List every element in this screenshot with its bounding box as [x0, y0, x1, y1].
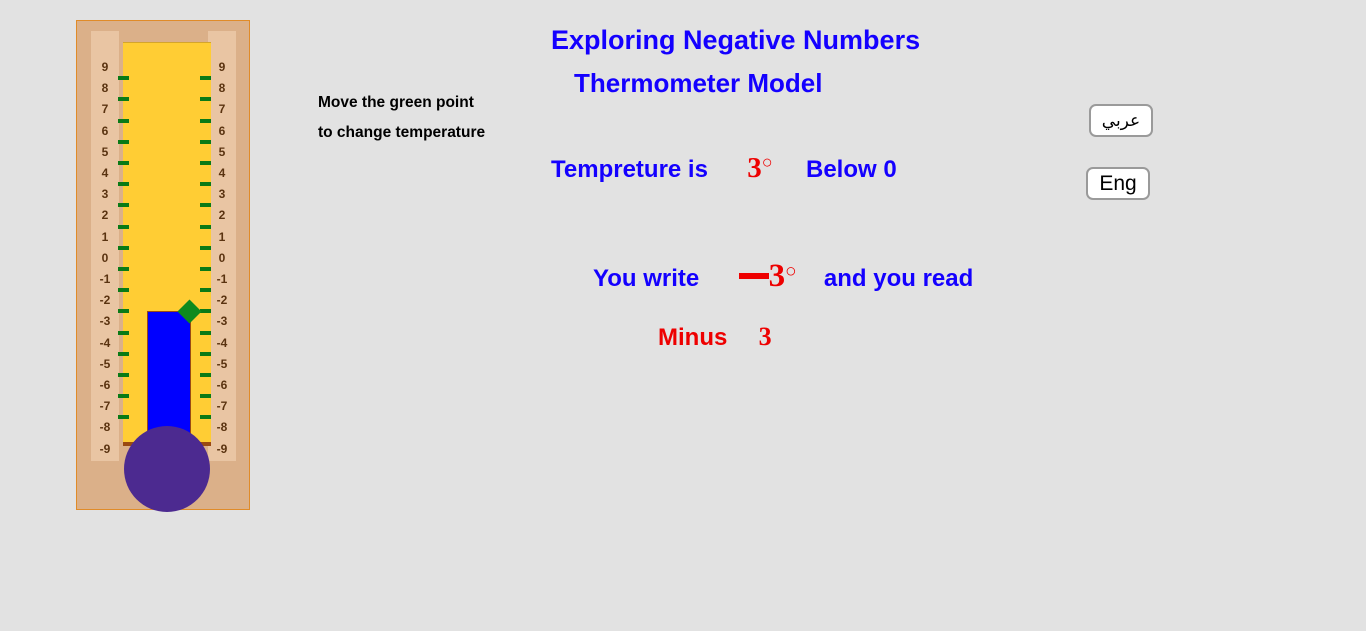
tick-mark-6 [118, 119, 129, 123]
tick-mark-7 [200, 97, 211, 101]
instructions-text: Move the green point to change temperatu… [318, 88, 488, 148]
scale-label--7: -7 [91, 400, 119, 412]
scale-label-7: 7 [208, 103, 236, 115]
thermometer-bulb [124, 426, 210, 512]
temperature-statement: Tempreture is 3○ Below 0 [551, 152, 897, 185]
tick-mark-5 [118, 140, 129, 144]
tick-mark--2 [118, 288, 129, 292]
tick-mark-1 [118, 225, 129, 229]
tick-mark--4 [118, 331, 129, 335]
scale-strip-left: 9876543210-1-2-3-4-5-6-7-8-9 [91, 31, 119, 461]
tick-mark-1 [200, 225, 211, 229]
tick-mark--4 [200, 331, 211, 335]
degree-symbol-icon: ○ [785, 261, 796, 282]
scale-label--6: -6 [91, 379, 119, 391]
tick-mark-6 [200, 119, 211, 123]
scale-label-9: 9 [208, 61, 236, 73]
scale-label-0: 0 [91, 252, 119, 264]
temperature-value: 3 [747, 152, 762, 184]
write-suffix-label: and you read [824, 265, 973, 292]
scale-label-0: 0 [208, 252, 236, 264]
scale-label-1: 1 [91, 231, 119, 243]
scale-label--5: -5 [208, 358, 236, 370]
scale-strip-right: 9876543210-1-2-3-4-5-6-7-8-9 [208, 31, 236, 461]
tick-mark-2 [200, 203, 211, 207]
tick-mark--2 [200, 288, 211, 292]
scale-label-2: 2 [208, 209, 236, 221]
tick-mark-8 [200, 76, 211, 80]
tick-mark--3 [118, 309, 129, 313]
scale-label--9: -9 [91, 443, 119, 455]
tick-mark--7 [200, 394, 211, 398]
language-button-english[interactable]: Eng [1086, 167, 1150, 200]
scale-label--9: -9 [208, 443, 236, 455]
scale-label--1: -1 [208, 273, 236, 285]
scale-label-5: 5 [91, 146, 119, 158]
tick-mark--5 [118, 352, 129, 356]
scale-label--6: -6 [208, 379, 236, 391]
tick-mark-3 [200, 182, 211, 186]
tick-mark--8 [118, 415, 129, 419]
scale-label--7: -7 [208, 400, 236, 412]
write-prefix-label: You write [593, 265, 699, 292]
minus-sign-icon [739, 273, 769, 279]
read-word-label: Minus [658, 324, 727, 351]
tick-mark--1 [118, 267, 129, 271]
thermometer-widget: 9876543210-1-2-3-4-5-6-7-8-9 9876543210-… [76, 20, 250, 510]
tick-mark--6 [200, 373, 211, 377]
write-value: 3 [769, 258, 786, 294]
scale-label-1: 1 [208, 231, 236, 243]
tick-mark--1 [200, 267, 211, 271]
scale-label-8: 8 [208, 82, 236, 94]
scale-label--2: -2 [91, 294, 119, 306]
scale-label--4: -4 [91, 337, 119, 349]
scale-label--3: -3 [91, 315, 119, 327]
scale-label--8: -8 [91, 421, 119, 433]
page-title-line1: Exploring Negative Numbers [551, 25, 920, 56]
scale-label-6: 6 [208, 125, 236, 137]
tick-mark--8 [200, 415, 211, 419]
scale-label--4: -4 [208, 337, 236, 349]
write-statement: You write 3○ and you read [593, 258, 973, 295]
tick-mark-5 [200, 140, 211, 144]
tick-mark-4 [118, 161, 129, 165]
degree-symbol-icon: ○ [762, 152, 773, 172]
scale-label-2: 2 [91, 209, 119, 221]
scale-label-3: 3 [91, 188, 119, 200]
temperature-prefix-label: Tempreture is [551, 156, 708, 183]
scale-label-3: 3 [208, 188, 236, 200]
page-title-line2: Thermometer Model [574, 68, 823, 99]
scale-label-8: 8 [91, 82, 119, 94]
scale-label-9: 9 [91, 61, 119, 73]
scale-label-7: 7 [91, 103, 119, 115]
tick-mark-7 [118, 97, 129, 101]
read-value: 3 [759, 322, 772, 351]
tick-mark-3 [118, 182, 129, 186]
tick-mark--3 [200, 309, 211, 313]
scale-label-4: 4 [208, 167, 236, 179]
temperature-suffix-label: Below 0 [806, 156, 897, 183]
scale-label-6: 6 [91, 125, 119, 137]
tick-mark--6 [118, 373, 129, 377]
tick-mark--7 [118, 394, 129, 398]
scale-label-4: 4 [91, 167, 119, 179]
tick-mark--5 [200, 352, 211, 356]
scale-label--1: -1 [91, 273, 119, 285]
scale-label--3: -3 [208, 315, 236, 327]
read-statement: Minus 3 [658, 322, 772, 352]
tick-mark-0 [200, 246, 211, 250]
language-button-arabic[interactable]: عربي [1089, 104, 1153, 137]
scale-label--2: -2 [208, 294, 236, 306]
scale-label--8: -8 [208, 421, 236, 433]
tick-mark-8 [118, 76, 129, 80]
scale-label--5: -5 [91, 358, 119, 370]
scale-label-5: 5 [208, 146, 236, 158]
tick-mark-2 [118, 203, 129, 207]
tick-mark-4 [200, 161, 211, 165]
tick-mark-0 [118, 246, 129, 250]
